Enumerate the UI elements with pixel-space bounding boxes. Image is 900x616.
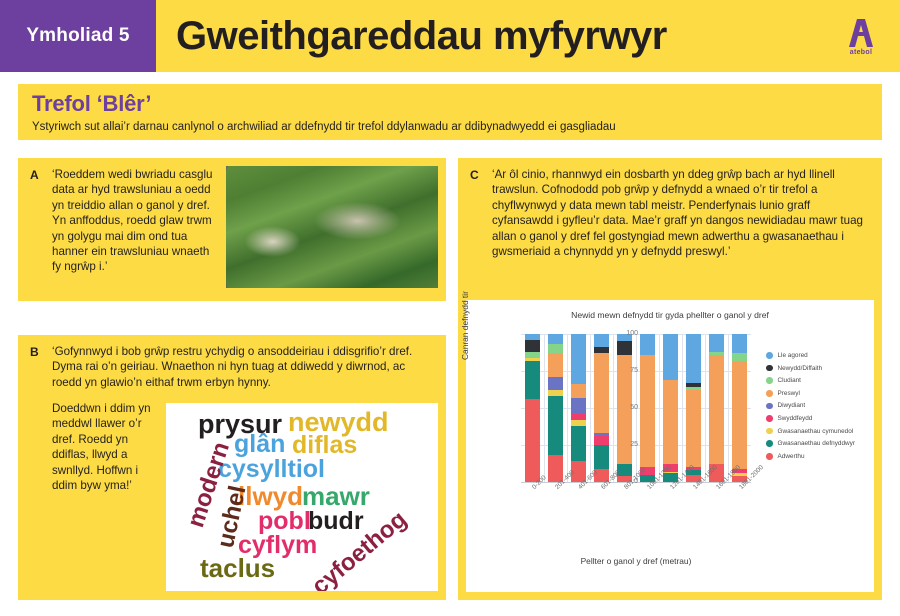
atebol-a-mark xyxy=(846,19,876,47)
word-cloud-word: taclus xyxy=(200,555,275,581)
legend-label: Lle agored xyxy=(778,352,808,359)
chart-y-axis-label: Canran defnydd tir xyxy=(460,291,470,360)
chart-bar-segment xyxy=(548,334,563,344)
page-header: Ymholiad 5 Gweithgareddau myfyrwyr atebo… xyxy=(0,0,900,72)
panel-b-letter: B xyxy=(30,345,39,359)
chart-bar-segment xyxy=(548,396,563,455)
chart-legend-item: Newydd/Diffaith xyxy=(766,365,855,372)
land-use-chart: Newid mewn defnydd tir gyda phellter o g… xyxy=(466,300,874,592)
chart-bar xyxy=(640,334,655,482)
word-cloud-word: mawr xyxy=(302,483,370,509)
panel-a-quote: ‘Roeddem wedi bwriadu casglu data ar hyd… xyxy=(52,167,220,275)
chart-bar-segment xyxy=(571,426,586,462)
panel-b-quote-bottom: Doeddwn i ddim yn meddwl llawer o’r dref… xyxy=(52,401,156,493)
panel-a: A ‘Roeddem wedi bwriadu casglu data ar h… xyxy=(18,158,446,301)
chart-bar-segment xyxy=(617,341,632,354)
legend-label: Swyddfeydd xyxy=(778,415,813,422)
legend-color-swatch xyxy=(766,377,773,384)
chart-bar-segment xyxy=(709,334,724,352)
chart-bar-segment xyxy=(571,384,586,397)
chart-bar-segment xyxy=(640,334,655,355)
legend-color-swatch xyxy=(766,428,773,435)
legend-label: Adwerthu xyxy=(778,453,805,460)
chart-gridline-vertical xyxy=(590,334,591,482)
panel-b: B ‘Gofynnwyd i bob grŵp restru ychydig o… xyxy=(18,335,446,600)
legend-color-swatch xyxy=(766,453,773,460)
legend-color-swatch xyxy=(766,403,773,410)
chart-legend-item: Preswyl xyxy=(766,390,855,397)
page-title: Gweithgareddau myfyrwyr xyxy=(176,0,667,72)
chart-bar xyxy=(686,334,701,482)
legend-color-swatch xyxy=(766,365,773,372)
chart-bar-segment xyxy=(709,355,724,465)
chart-bar-segment xyxy=(663,334,678,380)
chart-bar xyxy=(732,334,747,482)
chart-y-tick: 0 xyxy=(598,478,638,485)
legend-color-swatch xyxy=(766,440,773,447)
legend-color-swatch xyxy=(766,390,773,397)
legend-label: Diwydiant xyxy=(778,402,806,409)
enquiry-tag: Ymholiad 5 xyxy=(0,0,156,72)
chart-bar-segment xyxy=(732,361,747,469)
chart-bar-segment xyxy=(571,334,586,384)
chart-gridline-vertical xyxy=(728,334,729,482)
chart-gridline-vertical xyxy=(682,334,683,482)
chart-bar-segment xyxy=(732,353,747,360)
chart-bar-segment xyxy=(663,380,678,464)
chart-gridline-vertical xyxy=(544,334,545,482)
chart-gridline-vertical xyxy=(659,334,660,482)
chart-bar xyxy=(709,334,724,482)
legend-label: Preswyl xyxy=(778,390,800,397)
chart-bar-segment xyxy=(525,399,540,482)
chart-y-tick: 25 xyxy=(598,441,638,448)
chart-bar-segment xyxy=(548,353,563,377)
section-subtitle: Ystyriwch sut allai’r darnau canlynol o … xyxy=(32,121,868,133)
panel-a-letter: A xyxy=(30,168,39,182)
chart-bar-segment xyxy=(686,390,701,467)
chart-bar xyxy=(548,334,563,482)
chart-bar-segment xyxy=(686,334,701,383)
chart-bar-segment xyxy=(525,340,540,352)
atebol-wordmark: atebol xyxy=(850,49,872,56)
chart-legend-item: Swyddfeydd xyxy=(766,415,855,422)
chart-legend: Lle agoredNewydd/DiffaithCludiantPreswyl… xyxy=(766,352,855,465)
section-title: Trefol ‘Blêr’ xyxy=(32,91,868,117)
chart-title: Newid mewn defnydd tir gyda phellter o g… xyxy=(466,310,874,320)
chart-bar xyxy=(571,334,586,482)
legend-label: Cludiant xyxy=(778,377,801,384)
chart-legend-item: Lle agored xyxy=(766,352,855,359)
chart-bar xyxy=(525,334,540,482)
chart-y-tick: 75 xyxy=(598,367,638,374)
worksheet-page: Ymholiad 5 Gweithgareddau myfyrwyr atebo… xyxy=(0,0,900,616)
word-cloud-word: glân xyxy=(234,432,285,457)
aerial-photo xyxy=(226,166,438,288)
panel-c-letter: C xyxy=(470,168,479,182)
section-banner: Trefol ‘Blêr’ Ystyriwch sut allai’r darn… xyxy=(18,84,882,140)
chart-legend-item: Gwasanaethau cymunedol xyxy=(766,428,855,435)
word-cloud-image: prysurnewyddglândiflascysylltiolllwydmaw… xyxy=(166,403,438,591)
legend-label: Newydd/Diffaith xyxy=(778,365,823,372)
chart-bar-segment xyxy=(548,344,563,353)
chart-y-tick: 100 xyxy=(598,330,638,337)
panel-c-quote: ‘Ar ôl cinio, rhannwyd ein dosbarth yn d… xyxy=(492,167,870,259)
chart-bar-segment xyxy=(571,398,586,414)
chart-bar-segment xyxy=(594,445,609,469)
chart-legend-item: Gwasanaethau defnyddwyr xyxy=(766,440,855,447)
chart-bar xyxy=(663,334,678,482)
chart-bar-segment xyxy=(594,353,609,433)
legend-color-swatch xyxy=(766,352,773,359)
chart-gridline-vertical xyxy=(567,334,568,482)
chart-bar-segment xyxy=(548,377,563,390)
chart-legend-item: Cludiant xyxy=(766,377,855,384)
chart-bar-segment xyxy=(525,361,540,399)
chart-bar-segment xyxy=(732,334,747,353)
atebol-logo: atebol xyxy=(838,14,884,60)
chart-y-tick: 50 xyxy=(598,404,638,411)
legend-color-swatch xyxy=(766,415,773,422)
chart-legend-item: Adwerthu xyxy=(766,453,855,460)
chart-bar-segment xyxy=(640,355,655,467)
chart-legend-item: Diwydiant xyxy=(766,402,855,409)
chart-x-axis-label: Pellter o ganol y dref (metrau) xyxy=(521,556,751,566)
panel-c: C ‘Ar ôl cinio, rhannwyd ein dosbarth yn… xyxy=(458,158,882,600)
chart-gridline-vertical xyxy=(705,334,706,482)
panel-b-quote-top: ‘Gofynnwyd i bob grŵp restru ychydig o a… xyxy=(52,344,438,390)
legend-label: Gwasanaethau cymunedol xyxy=(778,428,854,435)
legend-label: Gwasanaethau defnyddwyr xyxy=(778,440,855,447)
word-cloud-word: cysylltiol xyxy=(218,457,325,482)
